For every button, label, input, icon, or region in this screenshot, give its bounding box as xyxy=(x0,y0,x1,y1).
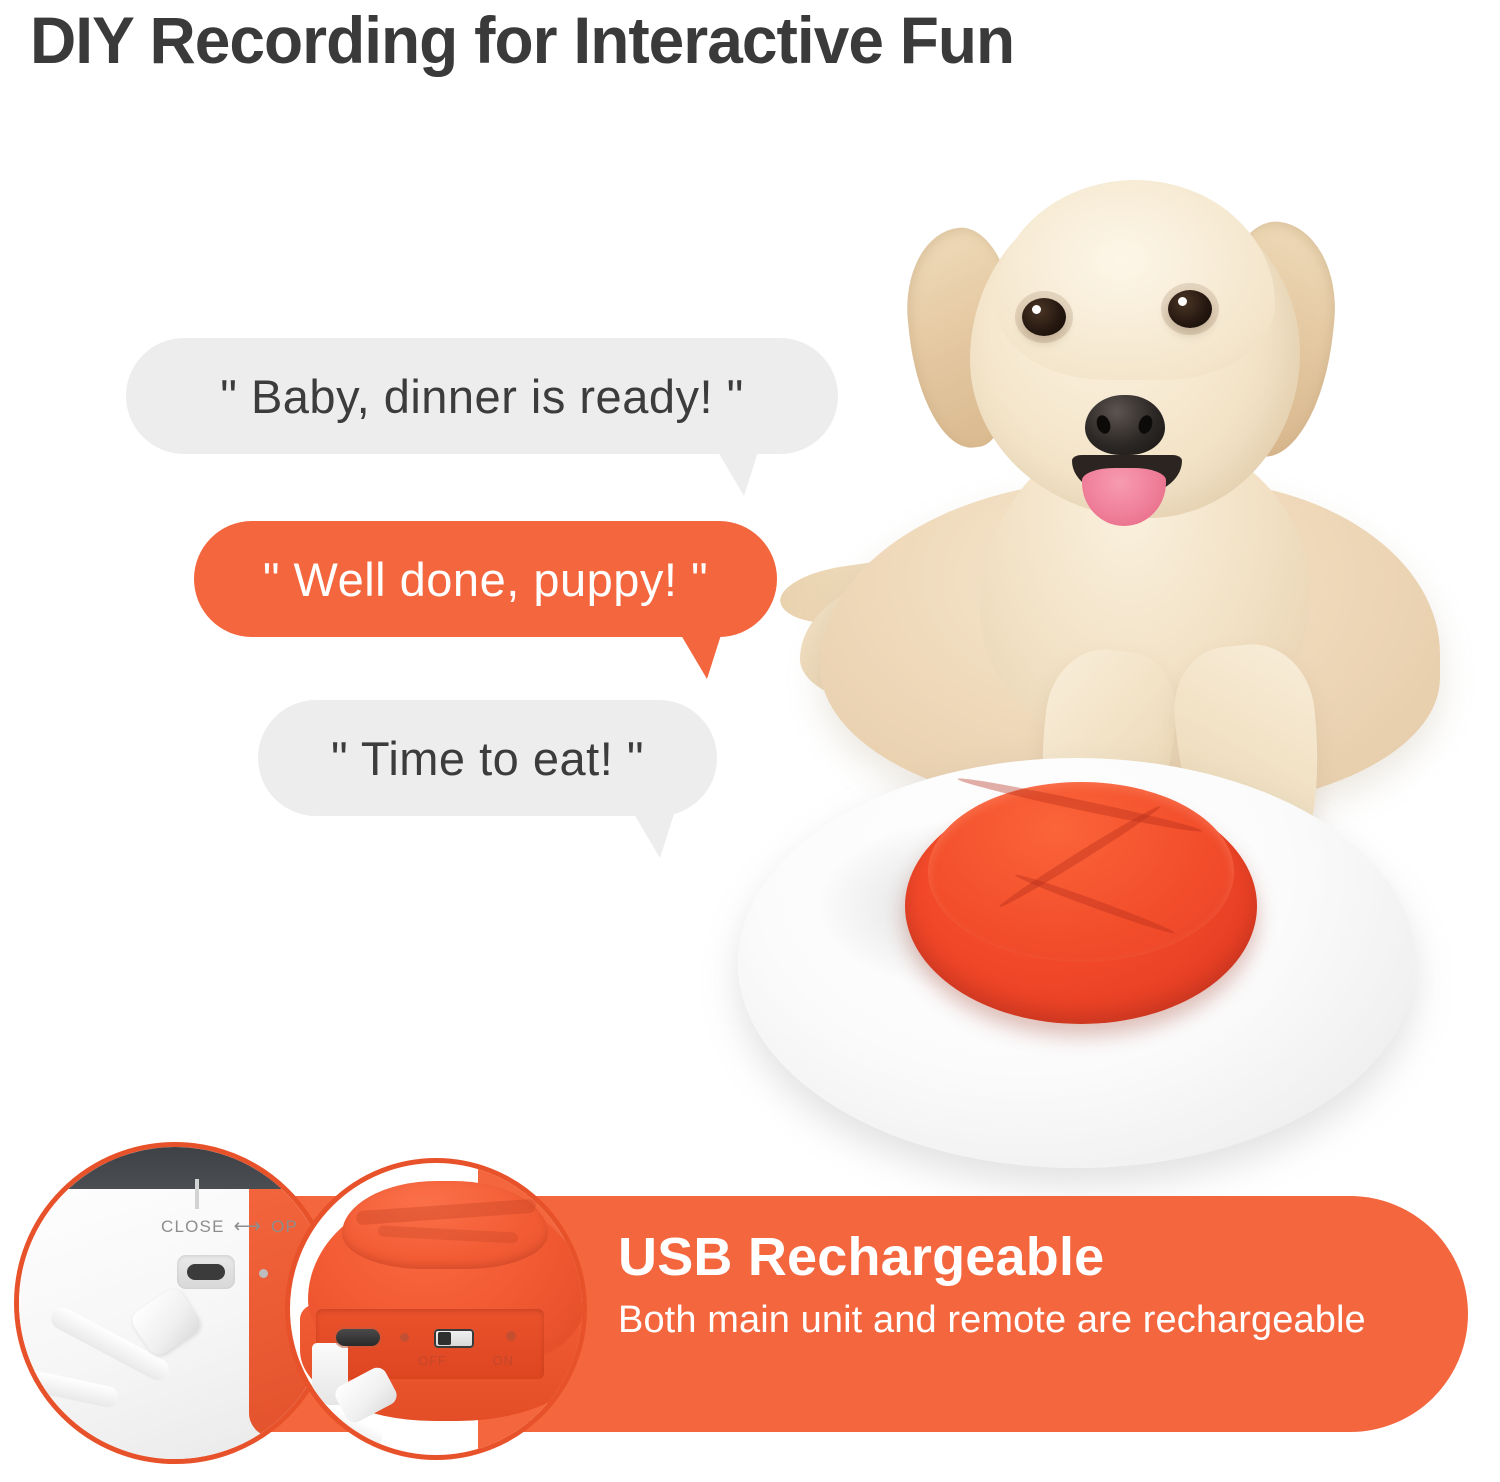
dog-eye-right-shape xyxy=(1168,290,1212,328)
usb-banner-text-block: USB Rechargeable Both main unit and remo… xyxy=(618,1228,1366,1343)
remote-top-cap[interactable] xyxy=(342,1181,548,1269)
usb-banner-title: USB Rechargeable xyxy=(618,1228,1366,1287)
usb-c-port-icon xyxy=(336,1329,380,1346)
led-indicator-icon xyxy=(259,1269,268,1278)
switch-off-label: OFF xyxy=(418,1353,447,1368)
close-label: CLOSE xyxy=(161,1217,225,1237)
usb-banner-subtitle: Both main unit and remote are rechargeab… xyxy=(618,1299,1366,1343)
dog-nose-shape xyxy=(1085,395,1165,455)
usb-c-port-hole xyxy=(187,1264,225,1280)
speech-bubble-2-text: " Well done, puppy! " xyxy=(263,552,708,607)
speech-bubble-3-text: " Time to eat! " xyxy=(331,731,644,786)
switch-on-label: ON xyxy=(493,1353,515,1368)
double-arrow-icon: ⟷ xyxy=(234,1215,262,1238)
speech-bubble-1-tail xyxy=(718,452,758,496)
speech-bubble-2: " Well done, puppy! " xyxy=(194,521,777,637)
speech-bubble-3: " Time to eat! " xyxy=(258,700,717,816)
led-indicator-icon xyxy=(400,1333,409,1342)
speech-bubble-1: " Baby, dinner is ready! " xyxy=(126,338,838,454)
page-title: DIY Recording for Interactive Fun xyxy=(30,2,1014,78)
speech-bubble-1-text: " Baby, dinner is ready! " xyxy=(220,369,744,424)
power-switch-nub xyxy=(438,1332,451,1345)
dog-eye-left-shape xyxy=(1022,298,1066,336)
power-switch-labels: OFF ON xyxy=(418,1353,514,1368)
dog-skull-shape xyxy=(995,180,1275,380)
usb-c-port-icon xyxy=(177,1255,235,1289)
power-switch-toggle[interactable] xyxy=(434,1329,474,1348)
speech-bubble-2-tail xyxy=(681,635,721,679)
inset-remote-charging: OFF ON xyxy=(285,1158,587,1460)
screw-dot-icon xyxy=(506,1331,516,1341)
close-open-label: CLOSE ⟷ OP xyxy=(161,1215,298,1238)
speech-bubble-3-tail xyxy=(634,814,674,858)
main-unit-seam xyxy=(195,1179,199,1209)
